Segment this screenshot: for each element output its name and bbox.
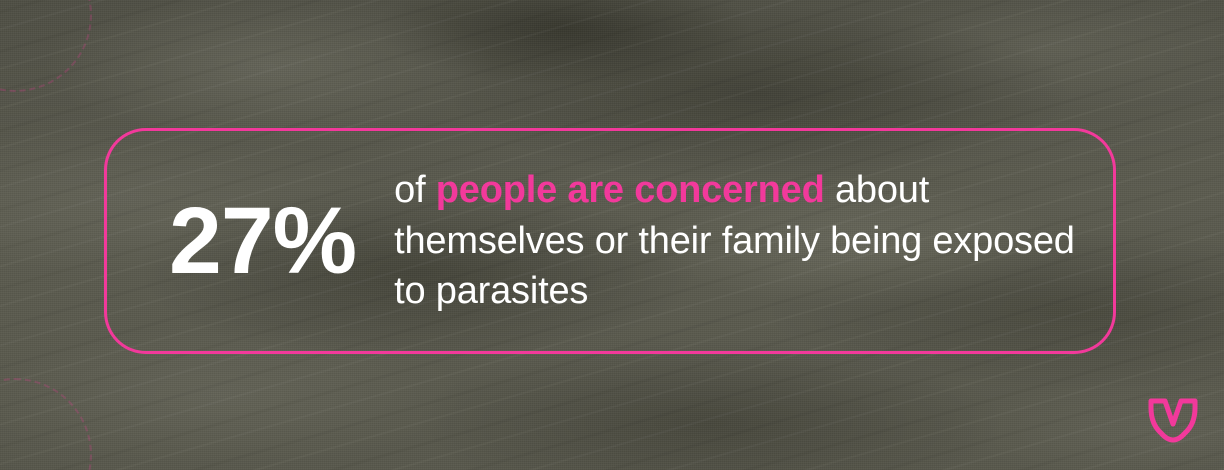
stat-callout-card: 27% of people are concerned about themse… [0,0,1224,470]
stat-outline-box: 27% of people are concerned about themse… [104,128,1116,354]
stat-figure: 27% [169,194,356,289]
corner-arc-bottom-left-decoration [0,378,92,470]
stat-description-lead: of [394,169,436,211]
stat-description: of people are concerned about themselves… [394,165,1113,317]
stat-description-highlight: people are concerned [436,169,825,211]
corner-arc-top-left-decoration [0,0,92,92]
v-logo [1147,398,1199,444]
